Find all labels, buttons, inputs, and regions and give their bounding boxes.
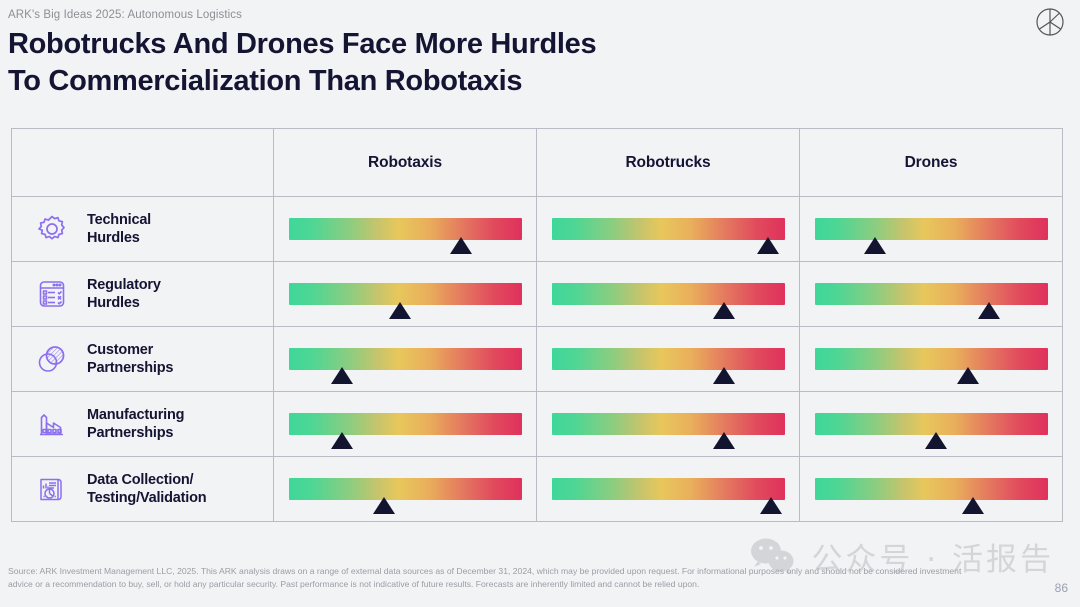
data-report-icon — [30, 467, 74, 511]
row-title: Technical Hurdles — [87, 211, 151, 247]
gauge-cell-robotrucks — [537, 197, 800, 261]
row-label-manufacturing-partnerships: Manufacturing Partnerships — [12, 392, 274, 456]
row-title-line-2: Hurdles — [87, 294, 161, 312]
table-row: Customer Partnerships — [12, 327, 1062, 392]
gauge-marker — [925, 432, 947, 449]
gauge-cell-robotaxis — [274, 327, 537, 391]
column-header-robotrucks: Robotrucks — [537, 129, 800, 196]
gauge-marker — [373, 497, 395, 514]
gauge — [552, 218, 785, 240]
ark-logo-icon — [1034, 6, 1066, 38]
gauge — [815, 218, 1048, 240]
gauge-marker — [957, 367, 979, 384]
row-title-line-1: Customer — [87, 341, 173, 359]
gauge-marker — [713, 367, 735, 384]
gauge — [815, 348, 1048, 370]
row-title: Customer Partnerships — [87, 341, 173, 377]
table-row: Regulatory Hurdles — [12, 262, 1062, 327]
gauge-gradient-bar — [289, 478, 522, 500]
table-header-row: Robotaxis Robotrucks Drones — [12, 129, 1062, 197]
gauge-cell-drones — [800, 392, 1062, 456]
gauge-gradient-bar — [552, 478, 785, 500]
table-row: Technical Hurdles — [12, 197, 1062, 262]
gauge — [815, 413, 1048, 435]
gauge — [289, 348, 522, 370]
gauge-cell-robotaxis — [274, 197, 537, 261]
row-label-technical-hurdles: Technical Hurdles — [12, 197, 274, 261]
gauge-marker — [760, 497, 782, 514]
gauge-gradient-bar — [552, 218, 785, 240]
gauge — [552, 413, 785, 435]
eyebrow-label: ARK's Big Ideas 2025: Autonomous Logisti… — [8, 9, 242, 21]
hurdles-table: Robotaxis Robotrucks Drones Technical Hu… — [11, 128, 1063, 522]
gauge-cell-drones — [800, 327, 1062, 391]
checklist-icon — [30, 272, 74, 316]
gauge-cell-robotrucks — [537, 262, 800, 326]
page-title-line-2: To Commercialization Than Robotaxis — [8, 63, 596, 100]
gauge-gradient-bar — [815, 283, 1048, 305]
gauge-marker — [713, 302, 735, 319]
table-row: Data Collection/ Testing/Validation — [12, 457, 1062, 521]
gauge-gradient-bar — [289, 348, 522, 370]
row-title-line-2: Partnerships — [87, 424, 184, 442]
gauge-marker — [757, 237, 779, 254]
source-note: Source: ARK Investment Management LLC, 2… — [8, 565, 988, 591]
page-title-line-1: Robotrucks And Drones Face More Hurdles — [8, 26, 596, 63]
gauge-marker — [864, 237, 886, 254]
gauge-gradient-bar — [552, 348, 785, 370]
gauge-cell-robotrucks — [537, 457, 800, 521]
venn-diagram-icon — [30, 337, 74, 381]
row-label-regulatory-hurdles: Regulatory Hurdles — [12, 262, 274, 326]
page-title: Robotrucks And Drones Face More Hurdles … — [8, 26, 596, 100]
gauge — [815, 283, 1048, 305]
gauge-cell-drones — [800, 262, 1062, 326]
gauge-cell-robotaxis — [274, 262, 537, 326]
row-title-line-1: Data Collection/ — [87, 471, 206, 489]
row-title: Regulatory Hurdles — [87, 276, 161, 312]
column-header-label: Robotaxis — [368, 154, 442, 172]
row-title: Data Collection/ Testing/Validation — [87, 471, 206, 507]
gauge — [289, 478, 522, 500]
row-title-line-2: Hurdles — [87, 229, 151, 247]
row-title: Manufacturing Partnerships — [87, 406, 184, 442]
column-header-robotaxis: Robotaxis — [274, 129, 537, 196]
gauge-cell-robotrucks — [537, 392, 800, 456]
row-title-line-1: Technical — [87, 211, 151, 229]
gauge-gradient-bar — [289, 218, 522, 240]
table-row: Manufacturing Partnerships — [12, 392, 1062, 457]
gauge-cell-drones — [800, 197, 1062, 261]
gauge-marker — [389, 302, 411, 319]
gauge — [289, 413, 522, 435]
row-title-line-2: Partnerships — [87, 359, 173, 377]
factory-icon — [30, 402, 74, 446]
page-number: 86 — [1055, 581, 1068, 595]
gauge-marker — [331, 367, 353, 384]
gauge — [289, 218, 522, 240]
gauge — [552, 283, 785, 305]
column-header-label: Drones — [905, 154, 958, 172]
gear-icon — [30, 207, 74, 251]
gauge-marker — [978, 302, 1000, 319]
gauge-marker — [331, 432, 353, 449]
gauge — [552, 348, 785, 370]
row-label-customer-partnerships: Customer Partnerships — [12, 327, 274, 391]
gauge-marker — [450, 237, 472, 254]
gauge-gradient-bar — [815, 218, 1048, 240]
gauge-cell-robotaxis — [274, 457, 537, 521]
gauge-gradient-bar — [289, 413, 522, 435]
gauge — [289, 283, 522, 305]
gauge-gradient-bar — [552, 413, 785, 435]
gauge — [552, 478, 785, 500]
gauge — [815, 478, 1048, 500]
gauge-marker — [962, 497, 984, 514]
gauge-gradient-bar — [552, 283, 785, 305]
gauge-cell-robotaxis — [274, 392, 537, 456]
row-label-data-collection: Data Collection/ Testing/Validation — [12, 457, 274, 521]
gauge-gradient-bar — [815, 348, 1048, 370]
row-title-line-2: Testing/Validation — [87, 489, 206, 507]
column-header-drones: Drones — [800, 129, 1062, 196]
gauge-marker — [713, 432, 735, 449]
gauge-gradient-bar — [815, 478, 1048, 500]
column-header-label: Robotrucks — [625, 154, 710, 172]
row-title-line-1: Regulatory — [87, 276, 161, 294]
gauge-cell-drones — [800, 457, 1062, 521]
gauge-cell-robotrucks — [537, 327, 800, 391]
table-corner-cell — [12, 129, 274, 196]
row-title-line-1: Manufacturing — [87, 406, 184, 424]
